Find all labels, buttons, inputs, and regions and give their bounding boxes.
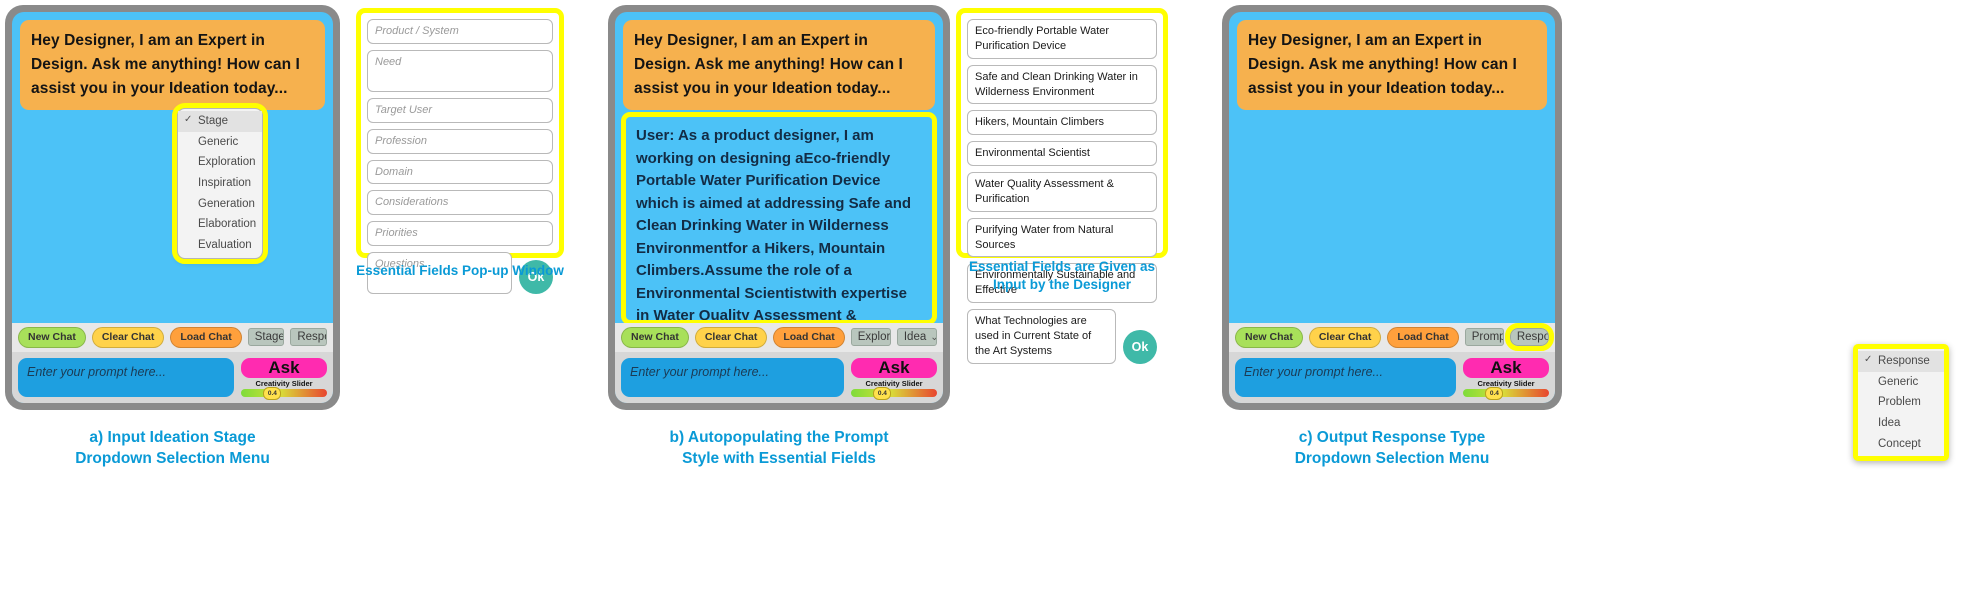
essential-fields-empty-caption: Essential Fields Pop-up Window — [350, 262, 570, 280]
prompt-input[interactable]: Enter your prompt here... — [621, 358, 844, 397]
field-need[interactable]: Safe and Clean Drinking Water in Wildern… — [967, 65, 1157, 105]
dropdown-option-generic[interactable]: Generic — [1858, 372, 1944, 393]
bot-greeting-bubble: Hey Designer, I am an Expert in Design. … — [20, 20, 325, 110]
creativity-slider-label: Creativity Slider — [1463, 380, 1549, 388]
creativity-slider-label: Creativity Slider — [851, 380, 937, 388]
stage-select-value: Prompt — [1472, 331, 1504, 343]
field-domain[interactable]: Domain — [367, 160, 553, 185]
questions-row: What Technologies are used in Current St… — [967, 309, 1157, 364]
stage-select[interactable]: Exploration ⌄ — [851, 328, 891, 346]
response-select[interactable]: Response ⌄ — [290, 328, 327, 346]
clear-chat-button[interactable]: Clear Chat — [695, 327, 768, 348]
panel-b-screen: Hey Designer, I am an Expert in Design. … — [615, 12, 943, 403]
field-questions[interactable]: What Technologies are used in Current St… — [967, 309, 1116, 364]
panel-b-chat-area: User: As a product designer, I am workin… — [615, 110, 943, 323]
new-chat-button[interactable]: New Chat — [1235, 327, 1303, 348]
panel-b-composer: Enter your prompt here... Ask Creativity… — [615, 352, 943, 403]
panel-a-caption: a) Input Ideation Stage Dropdown Selecti… — [5, 428, 340, 470]
creativity-slider-wrap: Creativity Slider 0.4 — [851, 380, 937, 397]
dropdown-option-stage[interactable]: Stage — [178, 111, 262, 132]
response-dropdown-popup[interactable]: Response Generic Problem Idea Concept — [1853, 344, 1949, 461]
stage-select-value: Exploration — [858, 331, 891, 343]
clear-chat-button[interactable]: Clear Chat — [1309, 327, 1382, 348]
response-select-value: Idea — [904, 331, 926, 343]
new-chat-button[interactable]: New Chat — [18, 327, 86, 348]
panel-a-composer: Enter your prompt here... Ask Creativity… — [12, 352, 333, 403]
panel-a-app-frame: Hey Designer, I am an Expert in Design. … — [5, 5, 340, 410]
ask-column: Ask Creativity Slider 0.4 — [851, 358, 937, 397]
creativity-slider-wrap: Creativity Slider 0.4 — [241, 380, 327, 397]
ask-button[interactable]: Ask — [241, 358, 327, 378]
field-domain[interactable]: Water Quality Assessment & Purification — [967, 172, 1157, 212]
user-prompt-message: User: As a product designer, I am workin… — [621, 112, 937, 325]
field-target-user[interactable]: Hikers, Mountain Climbers — [967, 110, 1157, 135]
dropdown-option-concept[interactable]: Concept — [1858, 434, 1944, 455]
figure-board: Hey Designer, I am an Expert in Design. … — [0, 0, 1970, 595]
creativity-slider[interactable]: 0.4 — [241, 389, 327, 397]
creativity-slider[interactable]: 0.4 — [1463, 389, 1549, 397]
field-need[interactable]: Need — [367, 50, 553, 92]
ask-column: Ask Creativity Slider 0.4 — [241, 358, 327, 397]
new-chat-button[interactable]: New Chat — [621, 327, 689, 348]
creativity-slider-knob[interactable]: 0.4 — [263, 387, 281, 400]
essential-fields-filled-popup: Eco-friendly Portable Water Purification… — [956, 8, 1168, 258]
dropdown-option-elaboration[interactable]: Elaboration — [178, 214, 262, 235]
field-considerations[interactable]: Purifying Water from Natural Sources — [967, 218, 1157, 258]
panel-c-toolbar: New Chat Clear Chat Load Chat Prompt ⌄ R… — [1229, 323, 1555, 352]
prompt-input[interactable]: Enter your prompt here... — [1235, 358, 1456, 397]
ask-column: Ask Creativity Slider 0.4 — [1463, 358, 1549, 397]
dropdown-option-generic[interactable]: Generic — [178, 132, 262, 153]
creativity-slider[interactable]: 0.4 — [851, 389, 937, 397]
response-select[interactable]: Response ⌄ — [1510, 328, 1549, 346]
panel-c-composer: Enter your prompt here... Ask Creativity… — [1229, 352, 1555, 403]
creativity-slider-knob[interactable]: 0.4 — [1485, 387, 1503, 400]
essential-fields-filled-caption: Essential Fields are Given as Input by t… — [950, 258, 1174, 294]
field-product-system[interactable]: Eco-friendly Portable Water Purification… — [967, 19, 1157, 59]
ask-button[interactable]: Ask — [1463, 358, 1549, 378]
panel-b-app-frame: Hey Designer, I am an Expert in Design. … — [608, 5, 950, 410]
dropdown-option-generation[interactable]: Generation — [178, 194, 262, 215]
dropdown-option-idea[interactable]: Idea — [1858, 413, 1944, 434]
dropdown-option-inspiration[interactable]: Inspiration — [178, 173, 262, 194]
field-product-system[interactable]: Product / System — [367, 19, 553, 44]
prompt-input[interactable]: Enter your prompt here... — [18, 358, 234, 397]
creativity-slider-label: Creativity Slider — [241, 380, 327, 388]
dropdown-option-response[interactable]: Response — [1858, 351, 1944, 372]
load-chat-button[interactable]: Load Chat — [773, 327, 844, 348]
bot-greeting-bubble: Hey Designer, I am an Expert in Design. … — [1237, 20, 1547, 110]
stage-select[interactable]: Prompt ⌄ — [1465, 328, 1504, 346]
response-select[interactable]: Idea ⌄ — [897, 328, 937, 346]
ask-button[interactable]: Ask — [851, 358, 937, 378]
dropdown-option-problem[interactable]: Problem — [1858, 392, 1944, 413]
field-profession[interactable]: Profession — [367, 129, 553, 154]
essential-fields-empty-popup: Product / System Need Target User Profes… — [356, 8, 564, 258]
response-select-value: Response — [1517, 331, 1549, 343]
clear-chat-button[interactable]: Clear Chat — [92, 327, 165, 348]
dropdown-option-evaluation[interactable]: Evaluation — [178, 235, 262, 256]
panel-c-app-frame: Hey Designer, I am an Expert in Design. … — [1222, 5, 1562, 410]
creativity-slider-wrap: Creativity Slider 0.4 — [1463, 380, 1549, 397]
panel-a-toolbar: New Chat Clear Chat Load Chat Stage ⌄ Re… — [12, 323, 333, 352]
load-chat-button[interactable]: Load Chat — [1387, 327, 1458, 348]
dropdown-option-exploration[interactable]: Exploration — [178, 152, 262, 173]
panel-b-caption: b) Autopopulating the Prompt Style with … — [608, 428, 950, 470]
load-chat-button[interactable]: Load Chat — [170, 327, 241, 348]
creativity-slider-knob[interactable]: 0.4 — [873, 387, 891, 400]
chevron-down-icon: ⌄ — [930, 332, 937, 343]
field-considerations[interactable]: Considerations — [367, 190, 553, 215]
stage-dropdown-popup[interactable]: Stage Generic Exploration Inspiration Ge… — [177, 108, 263, 259]
panel-b-toolbar: New Chat Clear Chat Load Chat Exploratio… — [615, 323, 943, 352]
stage-select[interactable]: Stage ⌄ — [248, 328, 285, 346]
bot-greeting-bubble: Hey Designer, I am an Expert in Design. … — [623, 20, 935, 110]
field-target-user[interactable]: Target User — [367, 98, 553, 123]
ok-button[interactable]: Ok — [1123, 330, 1157, 364]
panel-c-chat-area — [1229, 110, 1555, 323]
panel-c-caption: c) Output Response Type Dropdown Selecti… — [1222, 428, 1562, 470]
field-priorities[interactable]: Priorities — [367, 221, 553, 246]
panel-a-screen: Hey Designer, I am an Expert in Design. … — [12, 12, 333, 403]
panel-a-chat-area: Stage Generic Exploration Inspiration Ge… — [12, 110, 333, 323]
stage-select-value: Stage — [255, 331, 285, 343]
response-select-value: Response — [297, 331, 327, 343]
field-profession[interactable]: Environmental Scientist — [967, 141, 1157, 166]
panel-c-screen: Hey Designer, I am an Expert in Design. … — [1229, 12, 1555, 403]
